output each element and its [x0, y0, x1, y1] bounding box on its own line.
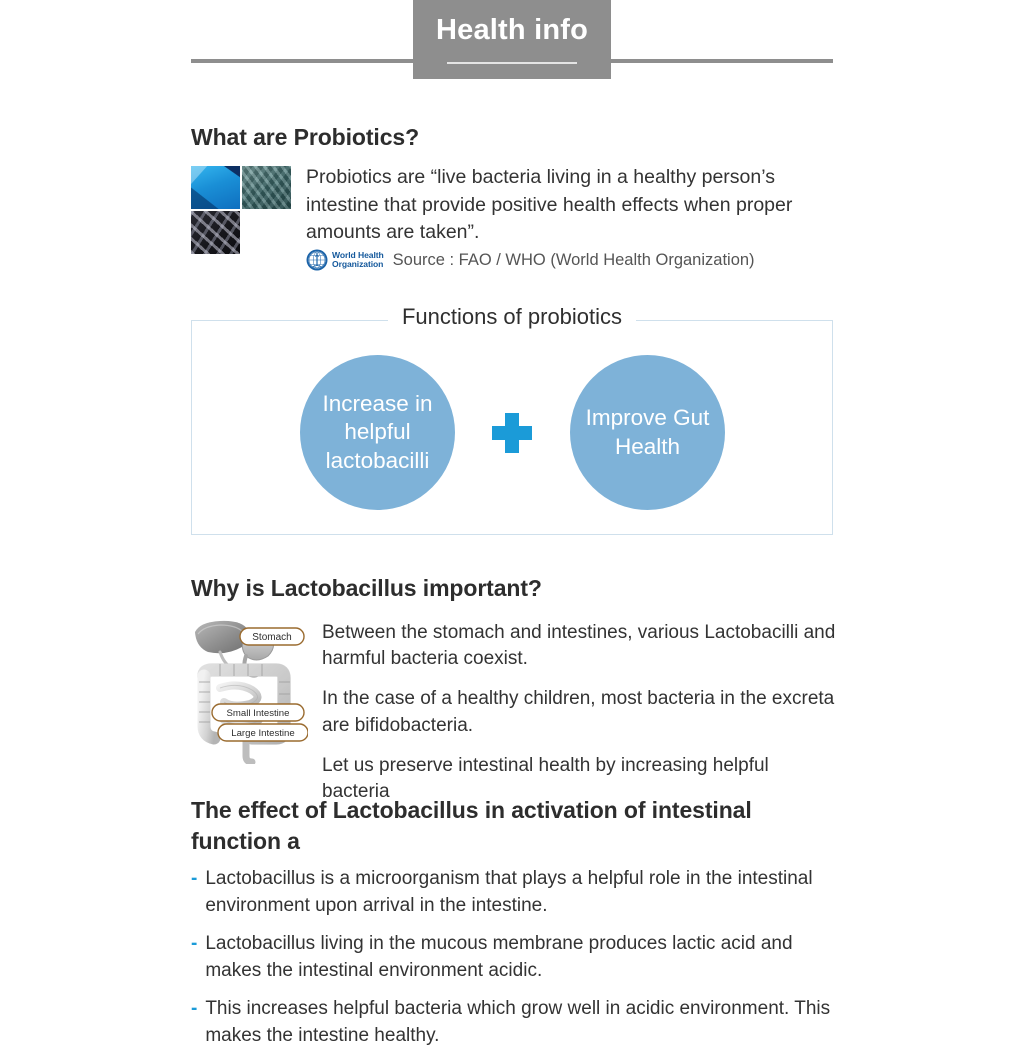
header-badge: Health info	[413, 0, 611, 79]
probiotics-definition-text: Probiotics are “live bacteria living in …	[306, 164, 838, 247]
bullet-dash-icon: -	[191, 996, 197, 1050]
who-emblem-icon	[306, 249, 328, 271]
bullet-dash-icon: -	[191, 866, 197, 920]
section-title-probiotics: What are Probiotics?	[191, 122, 419, 153]
section-title-effect: The effect of Lactobacillus in activatio…	[191, 795, 831, 858]
page-title: Health info	[436, 16, 588, 45]
functions-panel-title-wrap: Functions of probiotics	[0, 306, 1024, 329]
function-circle-increase-lactobacilli: Increase in helpful lactobacilli	[300, 355, 455, 510]
list-item: - Lactobacillus is a microorganism that …	[191, 866, 836, 920]
who-logo-wordmark: World Health Organization	[332, 251, 384, 269]
who-logo: World Health Organization	[306, 249, 384, 271]
anatomy-label-stomach: Stomach	[240, 628, 304, 645]
health-info-infographic: Health info What are Probiotics? Probiot…	[0, 0, 1024, 1024]
effect-bullet-list: - Lactobacillus is a microorganism that …	[191, 866, 836, 1050]
bullet-dash-icon: -	[191, 931, 197, 985]
function-circle-improve-gut-health: Improve Gut Health	[570, 355, 725, 510]
list-item: - This increases helpful bacteria which …	[191, 996, 836, 1050]
who-source-row: World Health Organization Source : FAO /…	[306, 249, 755, 271]
lactobacillus-paragraph-group: Between the stomach and intestines, vari…	[322, 620, 837, 805]
page-header: Health info	[0, 0, 1024, 90]
list-item: - Lactobacillus living in the mucous mem…	[191, 931, 836, 985]
digestive-anatomy-icon: Stomach Small Intestine Large Intestine	[190, 614, 308, 764]
effect-bullet-text-2: Lactobacillus living in the mucous membr…	[205, 931, 836, 985]
teal-rod-bacteria-micrograph-image	[242, 166, 291, 209]
section-title-lactobacillus: Why is Lactobacillus important?	[191, 573, 542, 604]
plus-icon	[492, 413, 532, 453]
source-attribution-text: Source : FAO / WHO (World Health Organiz…	[393, 251, 755, 270]
effect-bullet-text-1: Lactobacillus is a microorganism that pl…	[205, 866, 836, 920]
probiotics-thumbnail-group	[191, 166, 293, 254]
effect-bullet-text-3: This increases helpful bacteria which gr…	[205, 996, 836, 1050]
lactobacillus-paragraph-1: Between the stomach and intestines, vari…	[322, 620, 837, 672]
digestive-system-illustration: Stomach Small Intestine Large Intestine	[190, 614, 308, 764]
functions-panel-title: Functions of probiotics	[388, 304, 636, 329]
svg-text:Large Intestine: Large Intestine	[231, 728, 294, 739]
svg-text:Small Intestine: Small Intestine	[227, 708, 290, 719]
svg-text:Stomach: Stomach	[252, 632, 291, 643]
header-badge-underline	[447, 62, 577, 64]
anatomy-label-small-intestine: Small Intestine	[212, 704, 304, 721]
who-logo-line-2: Organization	[332, 260, 384, 269]
dark-purple-bacteria-micrograph-image	[191, 211, 240, 254]
anatomy-label-large-intestine: Large Intestine	[218, 724, 308, 741]
lactobacillus-paragraph-2: In the case of a healthy children, most …	[322, 686, 837, 738]
blue-crystal-bacteria-micrograph-image	[191, 166, 240, 209]
